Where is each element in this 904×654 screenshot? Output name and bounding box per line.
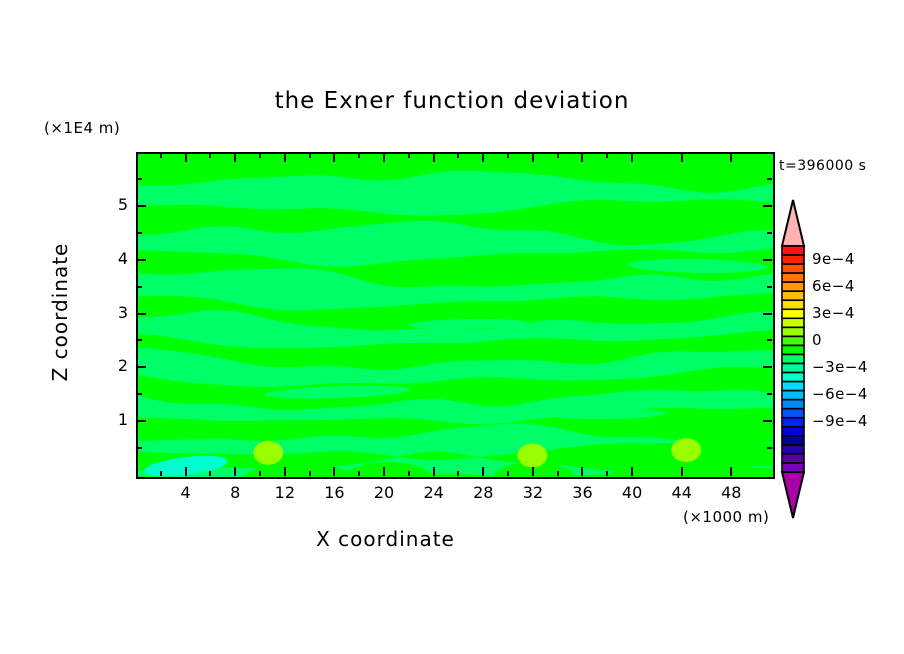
colorbar-band[interactable] [782,436,804,445]
plot-area [136,152,775,479]
colorbar-band[interactable] [782,373,804,382]
y-tick-major [763,259,772,261]
y-tick-minor [767,286,772,288]
x-tick-major [333,467,335,476]
x-tick-label: 28 [463,483,503,502]
colorbar-swatches [778,198,808,520]
figure-root: the Exner function deviation (×1E4 m) (×… [0,0,904,654]
colorbar-band[interactable] [782,400,804,409]
colorbar-tick-label: 9e−4 [812,250,855,268]
colorbar-tick-label: −9e−4 [812,412,868,430]
y-tick-minor [137,232,142,234]
colorbar-band[interactable] [782,345,804,354]
x-tick-minor [259,153,261,158]
y-tick-minor [137,447,142,449]
y-tick-minor [137,286,142,288]
colorbar-band[interactable] [782,273,804,282]
x-tick-label: 48 [711,483,751,502]
x-tick-major [631,467,633,476]
x-tick-minor [160,153,162,158]
triangle-down-icon [782,472,804,518]
time-annotation: t=396000 s [779,158,866,174]
y-tick-major [763,205,772,207]
contour-field [138,154,773,477]
x-tick-minor [309,153,311,158]
colorbar-band[interactable] [782,391,804,400]
colorbar-band[interactable] [782,264,804,273]
x-tick-label: 44 [662,483,702,502]
colorbar-band[interactable] [782,327,804,336]
x-tick-major [730,153,732,162]
colorbar-band[interactable] [782,354,804,363]
x-tick-major [185,467,187,476]
colorbar-band[interactable] [782,336,804,345]
x-tick-label: 4 [166,483,206,502]
x-tick-major [482,153,484,162]
x-tick-label: 40 [612,483,652,502]
colorbar-band[interactable] [782,318,804,327]
colorbar-band[interactable] [782,255,804,264]
x-tick-label: 32 [513,483,553,502]
colorbar-band[interactable] [782,382,804,391]
colorbar-band[interactable] [782,463,804,472]
x-tick-minor [606,153,608,158]
x-tick-major [433,153,435,162]
colorbar-band[interactable] [782,445,804,454]
contour-local-maximum [253,441,283,465]
colorbar-band[interactable] [782,427,804,436]
triangle-up-icon [782,200,804,246]
x-tick-minor [557,471,559,476]
x-tick-minor [457,471,459,476]
y-tick-label: 1 [98,410,128,429]
colorbar-band[interactable] [782,291,804,300]
colorbar-band[interactable] [782,246,804,255]
x-tick-major [581,467,583,476]
y-tick-major [763,313,772,315]
x-tick-label: 24 [414,483,454,502]
x-tick-label: 8 [215,483,255,502]
y-tick-major [137,313,146,315]
x-tick-label: 16 [314,483,354,502]
colorbar-tick-label: −3e−4 [812,358,868,376]
y-tick-label: 2 [98,356,128,375]
x-tick-major [234,467,236,476]
x-tick-minor [358,153,360,158]
x-tick-major [581,153,583,162]
x-tick-major [284,467,286,476]
page-title: the Exner function deviation [0,88,904,114]
y-tick-minor [137,393,142,395]
z-axis-unit-label: (×1E4 m) [44,119,120,137]
x-tick-minor [507,153,509,158]
y-tick-major [137,420,146,422]
x-tick-major [532,467,534,476]
x-tick-minor [408,153,410,158]
x-tick-major [631,153,633,162]
x-tick-minor [557,153,559,158]
y-tick-minor [137,339,142,341]
x-tick-minor [209,153,211,158]
colorbar-band[interactable] [782,364,804,373]
y-tick-label: 3 [98,303,128,322]
y-tick-minor [767,178,772,180]
y-tick-minor [767,393,772,395]
x-tick-minor [259,471,261,476]
x-tick-minor [507,471,509,476]
colorbar-band[interactable] [782,454,804,463]
x-tick-major [532,153,534,162]
colorbar-band[interactable] [782,282,804,291]
y-tick-minor [137,178,142,180]
x-tick-major [681,153,683,162]
y-tick-label: 4 [98,249,128,268]
y-tick-minor [767,232,772,234]
x-tick-minor [160,471,162,476]
colorbar-band[interactable] [782,300,804,309]
colorbar-tick-label: 0 [812,331,822,349]
x-tick-label: 36 [562,483,602,502]
x-tick-minor [309,471,311,476]
x-tick-major [284,153,286,162]
x-tick-major [185,153,187,162]
x-tick-minor [358,471,360,476]
y-tick-major [763,366,772,368]
x-axis-unit-label: (×1000 m) [683,508,769,526]
x-tick-major [234,153,236,162]
x-tick-minor [209,471,211,476]
x-tick-major [333,153,335,162]
y-tick-label: 5 [98,195,128,214]
x-tick-major [433,467,435,476]
colorbar-band[interactable] [782,409,804,418]
y-axis-title: Z coordinate [48,212,72,412]
y-tick-major [137,205,146,207]
colorbar-tick-label: 6e−4 [812,277,855,295]
x-tick-minor [457,153,459,158]
x-tick-major [383,153,385,162]
contour-local-maximum [517,443,547,467]
y-tick-minor [767,339,772,341]
x-tick-minor [606,471,608,476]
colorbar-band[interactable] [782,418,804,427]
x-tick-minor [408,471,410,476]
colorbar-tick-label: 3e−4 [812,304,855,322]
x-tick-label: 12 [265,483,305,502]
x-tick-major [681,467,683,476]
x-tick-major [730,467,732,476]
y-tick-major [137,366,146,368]
colorbar-band[interactable] [782,309,804,318]
x-tick-major [383,467,385,476]
y-tick-major [137,259,146,261]
colorbar-tick-label: −6e−4 [812,385,868,403]
x-tick-label: 20 [364,483,404,502]
x-axis-title: X coordinate [0,527,771,551]
colorbar[interactable] [778,198,808,520]
contour-local-maximum [671,438,701,462]
y-tick-major [763,420,772,422]
x-tick-major [482,467,484,476]
y-tick-minor [767,447,772,449]
